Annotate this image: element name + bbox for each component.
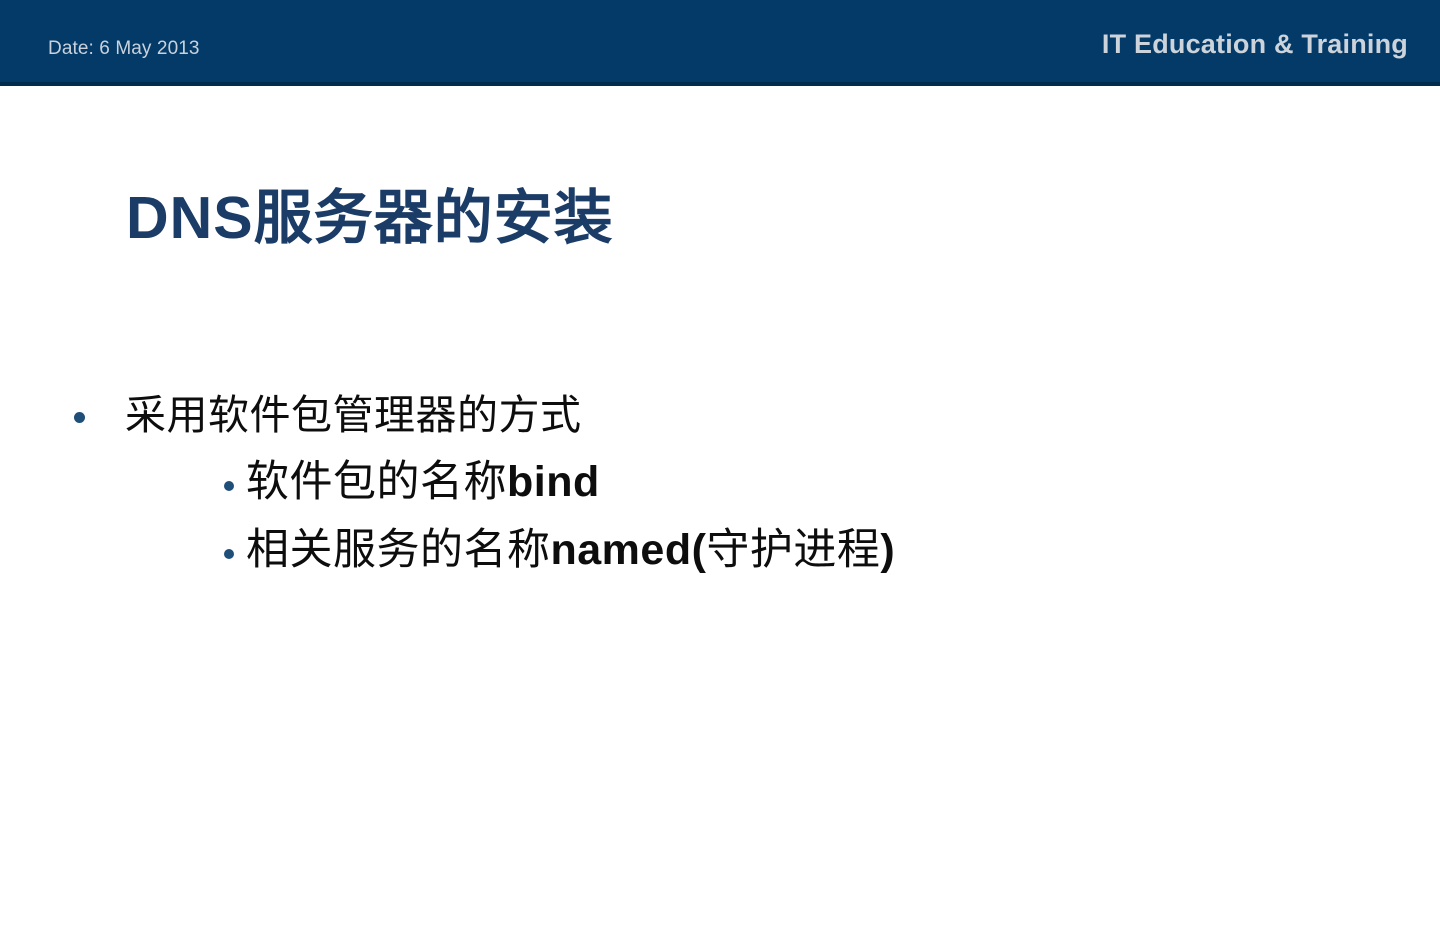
bullet-item-level1: 采用软件包管理器的方式	[0, 386, 1440, 444]
slide-body: 采用软件包管理器的方式 软件包的名称bind 相关服务的名称named(守护进程…	[0, 386, 1440, 588]
bullet-text: 采用软件包管理器的方式	[125, 386, 582, 444]
header-brand-title: IT Education & Training	[1102, 31, 1408, 58]
bullet-item-level2: 软件包的名称bind	[0, 452, 1440, 514]
bullet-dot-icon	[224, 481, 234, 491]
bullet-item-level2: 相关服务的名称named(守护进程)	[0, 520, 1440, 582]
bullet-text: 软件包的名称bind	[246, 452, 600, 514]
bullet-text: 相关服务的名称named(守护进程)	[246, 520, 895, 582]
bullet-dot-icon	[224, 549, 234, 559]
bullet-dot-icon	[74, 412, 85, 423]
slide-canvas: Date: 6 May 2013 IT Education & Training…	[0, 0, 1440, 925]
header-date-label: Date: 6 May 2013	[48, 39, 200, 58]
slide-header-band: Date: 6 May 2013 IT Education & Training	[0, 0, 1440, 86]
slide-title: DNS服务器的安装	[126, 185, 614, 251]
